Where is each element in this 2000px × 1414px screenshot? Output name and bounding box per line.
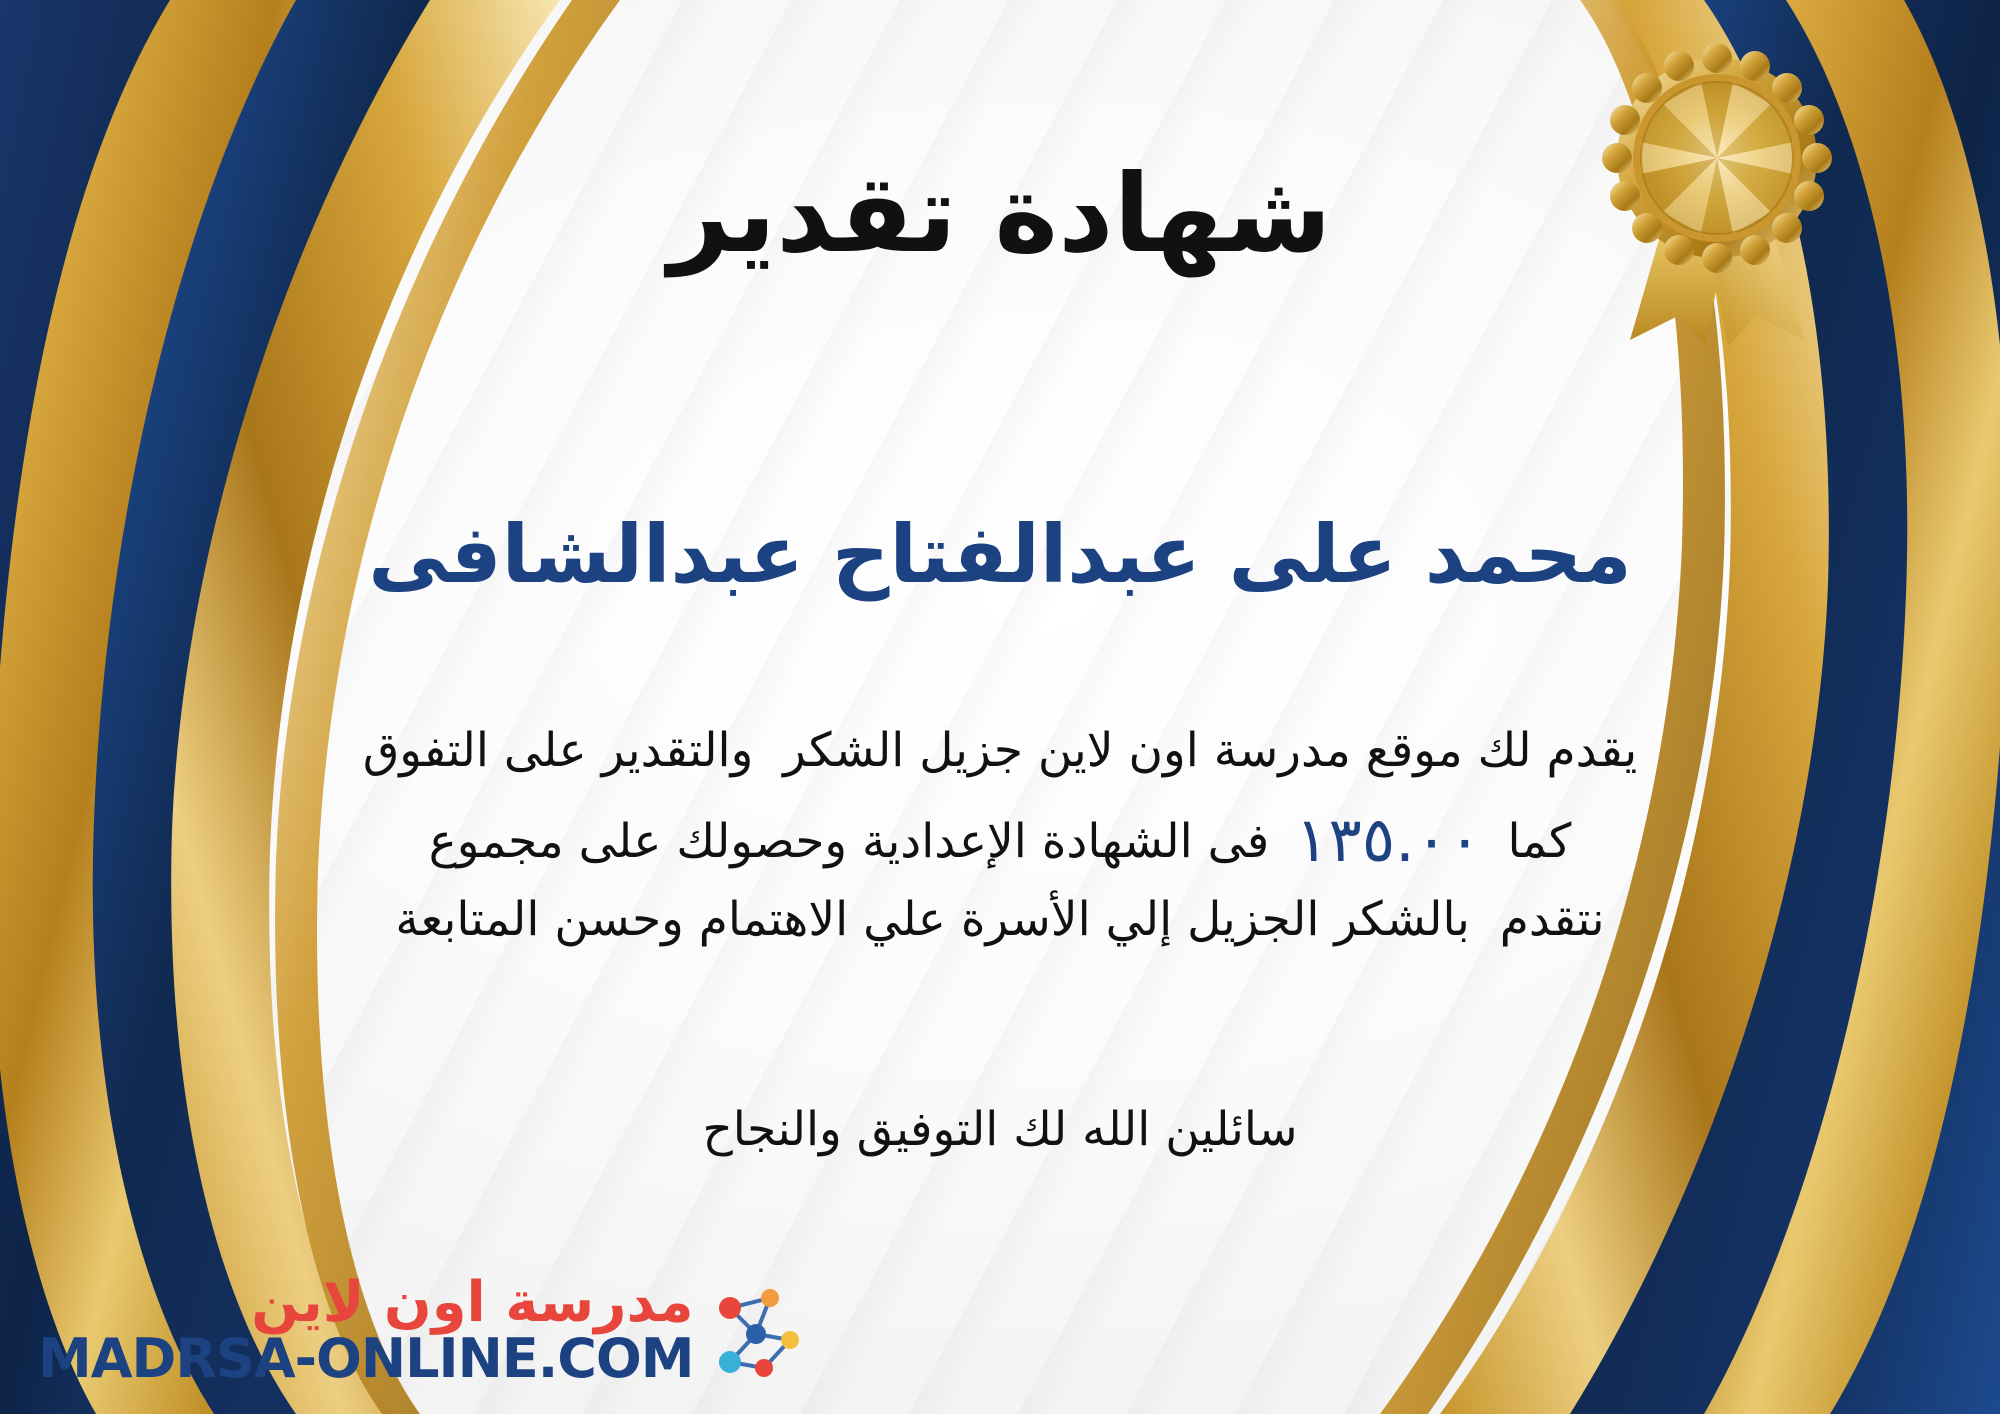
gold-medal-rosette-icon	[1602, 40, 1832, 350]
molecule-network-icon	[704, 1278, 808, 1382]
brand-name-arabic: مدرسة اون لاين	[251, 1274, 693, 1331]
recipient-name: محمد على عبدالفتاح عبدالشافى	[0, 505, 2000, 605]
certificate-page: شهادة تقدير محمد على عبدالفتاح عبدالشافى…	[0, 0, 2000, 1414]
body-line-1: يقدم لك موقع مدرسة اون لاين جزيل الشكر و…	[60, 715, 1940, 788]
certificate-body: يقدم لك موقع مدرسة اون لاين جزيل الشكر و…	[60, 715, 1940, 957]
grade-total-value: ١٣٥.٠٠	[1269, 792, 1507, 888]
body-line-3: نتقدم بالشكر الجزيل إلي الأسرة علي الاهت…	[60, 884, 1940, 957]
body-line-2-suffix: كما	[1507, 806, 1571, 879]
body-line-2-prefix: فى الشهادة الإعدادية وحصولك على مجموع	[429, 806, 1270, 879]
body-line-2: كما ١٣٥.٠٠ فى الشهادة الإعدادية وحصولك ع…	[60, 788, 1940, 884]
brand-text: مدرسة اون لاين MADRSA-ONLINE.COM	[38, 1274, 694, 1386]
brand-logo[interactable]: مدرسة اون لاين MADRSA-ONLINE.COM	[38, 1274, 808, 1386]
closing-wish: سائلين الله لك التوفيق والنجاح	[0, 1095, 2000, 1166]
brand-name-latin: MADRSA-ONLINE.COM	[38, 1331, 694, 1386]
